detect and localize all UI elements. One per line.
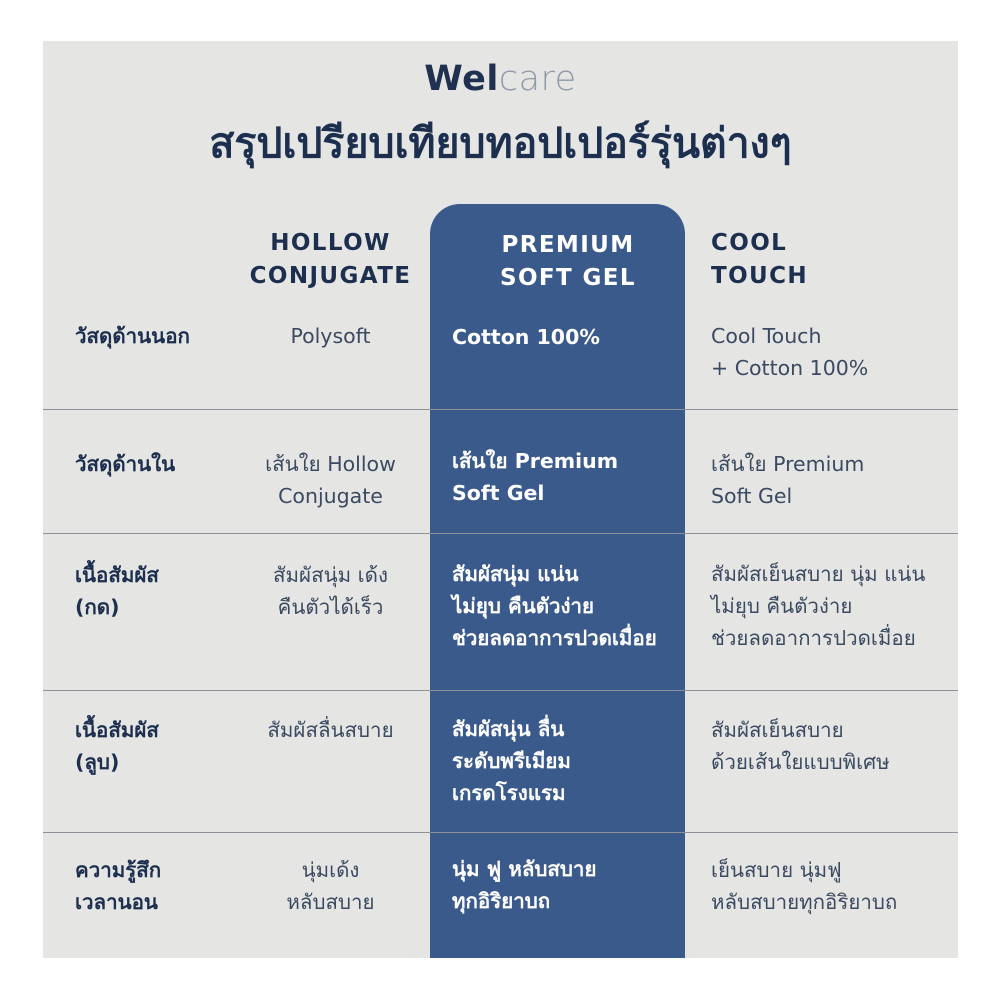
row-label-texture-stroke: เนื้อสัมผัส (ลูบ) (75, 715, 245, 779)
cell-r5-cool-touch: เย็นสบาย นุ่มฟู หลับสบายทุกอิริยาบถ (711, 855, 951, 919)
cell-r2-premium-soft-gel: เส้นใย Premium Soft Gel (452, 446, 684, 510)
cell-r3-premium-soft-gel: สัมผัสนุ่ม แน่น ไม่ยุบ คืนตัวง่าย ช่วยลด… (452, 559, 684, 654)
column-header-cool-touch: COOL TOUCH (711, 227, 951, 294)
cell-r4-hollow-conjugate: สัมผัสลื่นสบาย (233, 715, 428, 747)
row-label-sleep-feeling: ความรู้สึก เวลานอน (75, 855, 245, 919)
row-divider-4 (43, 832, 958, 833)
row-divider-2 (43, 533, 958, 534)
cell-r5-hollow-conjugate: นุ่มเด้ง หลับสบาย (233, 855, 428, 919)
row-divider-3 (43, 690, 958, 691)
row-label-outer-material: วัสดุด้านนอก (75, 321, 245, 353)
column-header-hollow-conjugate: HOLLOW CONJUGATE (233, 227, 428, 294)
cell-r4-cool-touch: สัมผัสเย็นสบาย ด้วยเส้นใยแบบพิเศษ (711, 715, 951, 779)
cell-r1-hollow-conjugate: Polysoft (233, 321, 428, 353)
row-divider-1 (43, 409, 958, 410)
cell-r2-hollow-conjugate: เส้นใย Hollow Conjugate (233, 449, 428, 513)
cell-r5-premium-soft-gel: นุ่ม ฟู หลับสบาย ทุกอิริยาบถ (452, 854, 684, 918)
row-label-texture-press: เนื้อสัมผัส (กด) (75, 560, 245, 624)
comparison-panel: Welcare สรุปเปรียบเทียบทอปเปอร์รุ่นต่างๆ… (43, 41, 958, 958)
cell-r3-cool-touch: สัมผัสเย็นสบาย นุ่ม แน่น ไม่ยุบ คืนตัวง่… (711, 559, 951, 654)
row-label-inner-material: วัสดุด้านใน (75, 449, 245, 481)
infographic-canvas: Welcare สรุปเปรียบเทียบทอปเปอร์รุ่นต่างๆ… (0, 0, 1000, 1000)
cell-r3-hollow-conjugate: สัมผัสนุ่ม เด้ง คืนตัวได้เร็ว (233, 560, 428, 624)
comparison-table: HOLLOW CONJUGATE PREMIUM SOFT GEL COOL T… (43, 41, 958, 958)
cell-r4-premium-soft-gel: สัมผัสนุ่น ลื่น ระดับพรีเมียม เกรดโรงแรม (452, 714, 684, 809)
cell-r1-premium-soft-gel: Cotton 100% (452, 322, 684, 354)
cell-r2-cool-touch: เส้นใย Premium Soft Gel (711, 449, 951, 513)
column-header-premium-soft-gel: PREMIUM SOFT GEL (452, 229, 684, 296)
cell-r1-cool-touch: Cool Touch + Cotton 100% (711, 321, 951, 385)
